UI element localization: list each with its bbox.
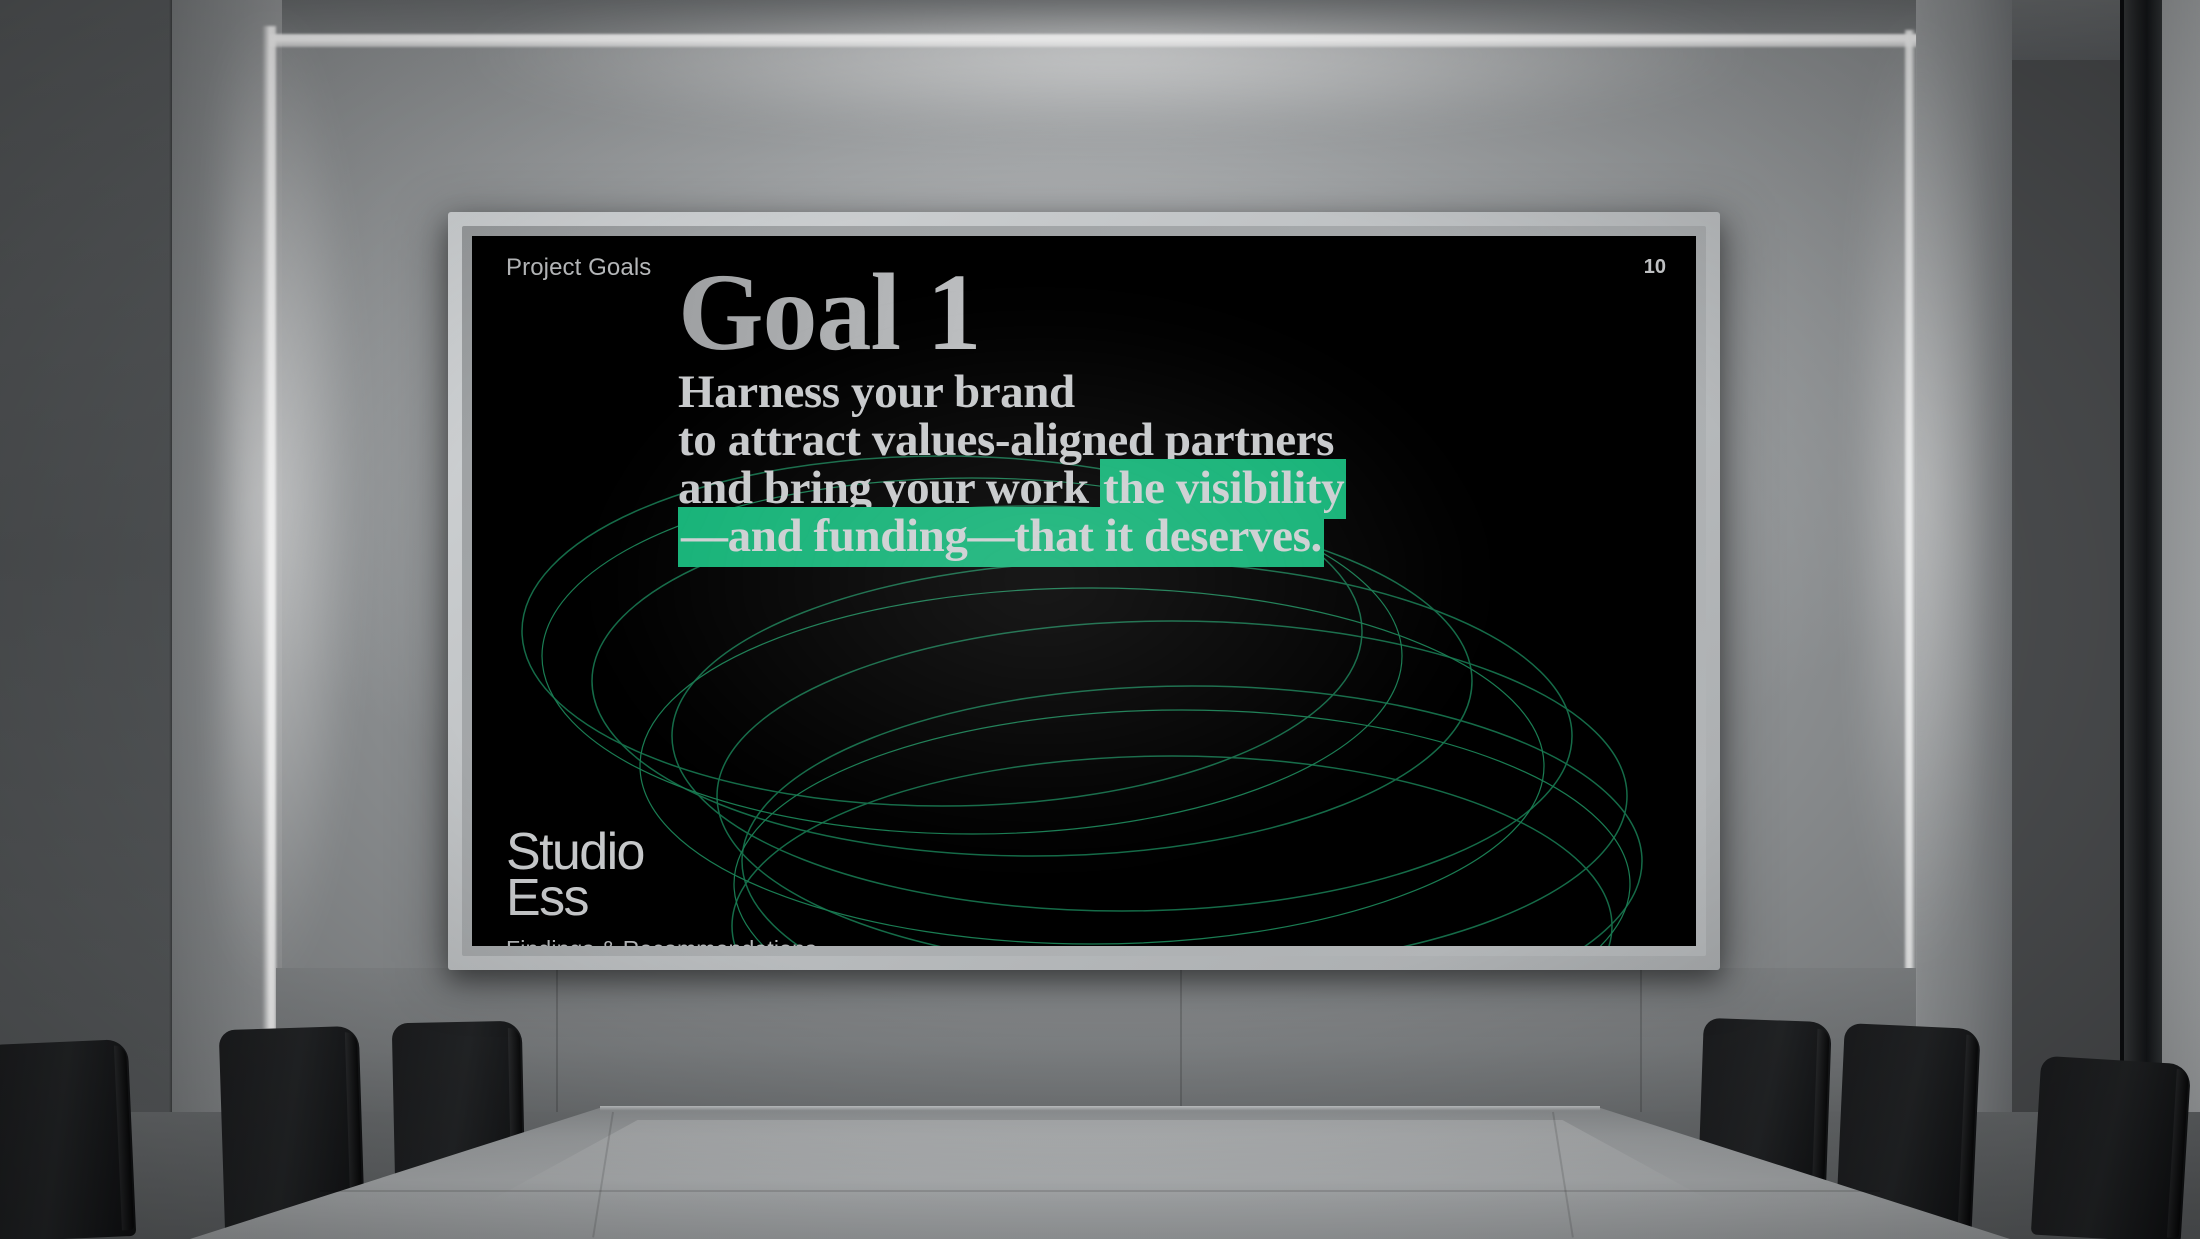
deck-line-4-highlight: —and funding—that it deserves. <box>678 507 1324 567</box>
screenshot-stage: Project Goals 10 Goal 1 Harness your bra… <box>0 0 2200 1239</box>
table-seam <box>320 1190 1880 1192</box>
wall-panel-seam <box>1180 968 1182 1118</box>
deck-line-1: Harness your brand <box>678 368 1678 416</box>
logo-line-2: Ess <box>506 876 817 922</box>
deck-line-3: and bring your work the visibility <box>678 464 1678 512</box>
deck-line-4: —and funding—that it deserves. <box>678 512 1678 560</box>
table-far-edge <box>600 1106 1600 1111</box>
right-wall-recess <box>2122 0 2162 1239</box>
chair-left-1 <box>0 1039 136 1239</box>
table-reflection <box>420 1120 1780 1239</box>
far-right-wall-panel <box>2162 0 2200 1239</box>
studio-logo-lockup: Studio Ess Findings & Recommendations <box>506 830 817 946</box>
slide-headline-block: Goal 1 Harness your brand to attract val… <box>678 260 1678 560</box>
slide-kicker: Project Goals <box>506 254 651 282</box>
chair-right-3 <box>2031 1056 2191 1239</box>
wall-panel-seam <box>1640 968 1642 1118</box>
deck-line-2: to attract values-aligned partners <box>678 416 1678 464</box>
presentation-slide[interactable]: Project Goals 10 Goal 1 Harness your bra… <box>472 236 1696 946</box>
wall-panel-seam <box>556 968 558 1118</box>
logo-subtitle: Findings & Recommendations <box>506 936 817 947</box>
slide-deck: Harness your brand to attract values-ali… <box>678 368 1678 561</box>
right-wall-shadow-line <box>2120 0 2124 1239</box>
slide-title: Goal 1 <box>678 260 1678 366</box>
top-led-strip-icon <box>270 34 1955 47</box>
